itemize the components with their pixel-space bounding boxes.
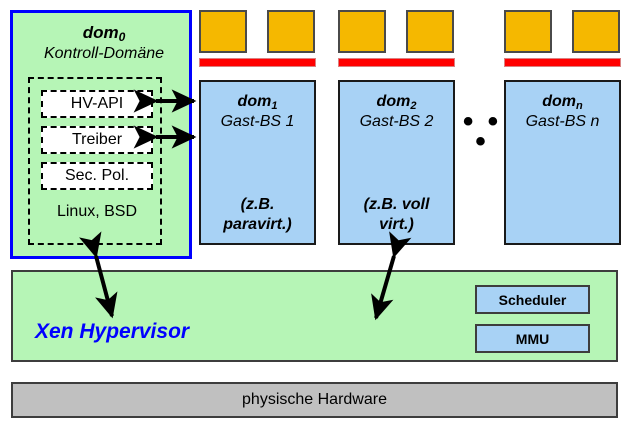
guest-domain-2-note-line2: virt.) — [340, 215, 453, 235]
guest-domain-1-name: dom — [238, 93, 272, 110]
guest-domain-2-title: dom2 — [340, 92, 453, 113]
control-domain-os-container: HV-API Treiber Sec. Pol. Linux, BSD — [28, 77, 162, 245]
guest-domain-1-note: (z.B. paravirt.) — [201, 195, 314, 235]
hypervisor-label: Xen Hypervisor — [35, 320, 189, 344]
xen-architecture-diagram: dom0 Kontroll-Domäne HV-API Treiber Sec.… — [0, 0, 630, 423]
app-square-dom1-2 — [267, 10, 315, 53]
guest-domain-1-title: dom1 — [201, 92, 314, 113]
separator-bar-dom2 — [338, 58, 455, 67]
control-domain-os-label: Linux, BSD — [30, 203, 164, 221]
separator-bar-dom1 — [199, 58, 316, 67]
guest-domain-2-note: (z.B. voll virt.) — [340, 195, 453, 235]
control-domain-name: dom — [83, 23, 119, 42]
separator-bar-domn — [504, 58, 621, 67]
control-domain-title: dom0 — [13, 23, 195, 44]
guest-domain-1-box: dom1 Gast-BS 1 (z.B. paravirt.) — [199, 80, 316, 245]
guest-domain-2-note-line1: (z.B. voll — [340, 195, 453, 215]
hypervisor-band: Xen Hypervisor Scheduler MMU — [11, 270, 618, 362]
guest-domain-1-os: Gast-BS 1 — [201, 112, 314, 131]
guest-domain-n-os: Gast-BS n — [506, 112, 619, 131]
guest-domain-n-box: domn Gast-BS n — [504, 80, 621, 245]
control-domain-box: dom0 Kontroll-Domäne HV-API Treiber Sec.… — [10, 10, 192, 259]
guest-domain-n-index: n — [576, 100, 583, 112]
app-square-dom2-2 — [406, 10, 454, 53]
module-treiber: Treiber — [41, 126, 153, 154]
guest-domain-2-box: dom2 Gast-BS 2 (z.B. voll virt.) — [338, 80, 455, 245]
hypervisor-module-mmu: MMU — [475, 324, 590, 353]
guest-domain-n-name: dom — [542, 93, 576, 110]
guest-domain-2-index: 2 — [410, 100, 416, 112]
guest-domain-1-note-line1: (z.B. — [201, 195, 314, 215]
control-domain-index: 0 — [119, 30, 126, 44]
physical-hardware-bar: physische Hardware — [11, 382, 618, 418]
guest-domain-2-name: dom — [377, 93, 411, 110]
app-square-dom2-1 — [338, 10, 386, 53]
module-hv-api: HV-API — [41, 90, 153, 118]
ellipsis-indicator: • • • — [461, 112, 503, 152]
module-sec-pol: Sec. Pol. — [41, 162, 153, 190]
guest-domain-n-title: domn — [506, 92, 619, 113]
guest-domain-2-os: Gast-BS 2 — [340, 112, 453, 131]
guest-domain-1-index: 1 — [271, 100, 277, 112]
app-square-dom1-1 — [199, 10, 247, 53]
guest-domain-1-note-line2: paravirt.) — [201, 215, 314, 235]
hypervisor-module-scheduler: Scheduler — [475, 285, 590, 314]
app-square-domn-1 — [504, 10, 552, 53]
control-domain-subtitle: Kontroll-Domäne — [13, 44, 195, 64]
app-square-domn-2 — [572, 10, 620, 53]
